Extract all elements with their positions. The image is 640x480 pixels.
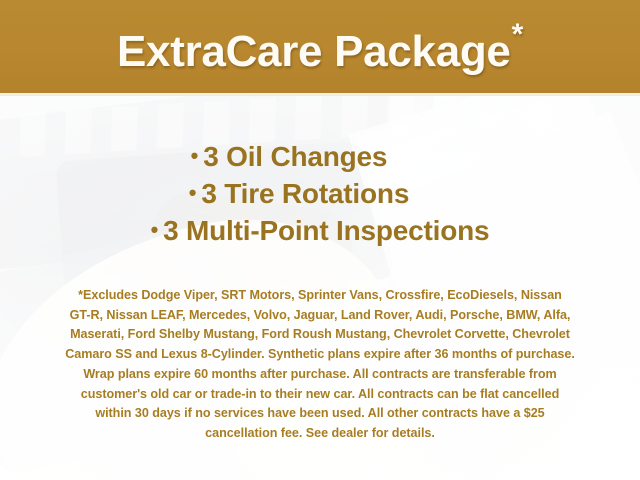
bullet-icon: •: [189, 180, 197, 205]
disclaimer-text: *Excludes Dodge Viper, SRT Motors, Sprin…: [32, 286, 608, 444]
offer-list-item: •3 Multi-Point Inspections: [0, 212, 640, 249]
disclaimer-line: customer's old car or trade-in to their …: [32, 385, 608, 405]
disclaimer-line: GT-R, Nissan LEAF, Mercedes, Volvo, Jagu…: [32, 306, 608, 326]
offer-list-item-label: 3 Multi-Point Inspections: [163, 215, 489, 246]
bullet-icon: •: [151, 217, 159, 242]
offer-list-item: •3 Tire Rotations: [0, 175, 640, 212]
disclaimer-line: Camaro SS and Lexus 8-Cylinder. Syntheti…: [32, 345, 608, 365]
disclaimer-line: *Excludes Dodge Viper, SRT Motors, Sprin…: [32, 286, 608, 306]
header-banner: ExtraCare Package*: [0, 0, 640, 93]
page-title-asterisk: *: [512, 18, 523, 51]
offer-list-item-label: 3 Oil Changes: [203, 141, 387, 172]
offer-list: •3 Oil Changes •3 Tire Rotations •3 Mult…: [0, 138, 640, 250]
disclaimer-line: within 30 days if no services have been …: [32, 404, 608, 424]
page-title: ExtraCare Package*: [117, 20, 523, 74]
disclaimer-line: cancellation fee. See dealer for details…: [32, 424, 608, 444]
bullet-icon: •: [191, 143, 199, 168]
extracare-package-ad: ExtraCare Package* •3 Oil Changes •3 Tir…: [0, 0, 640, 480]
disclaimer-line: Wrap plans expire 60 months after purcha…: [32, 365, 608, 385]
offer-list-item-label: 3 Tire Rotations: [201, 178, 409, 209]
banner-underline: [0, 93, 640, 96]
page-title-text: ExtraCare Package: [117, 27, 511, 76]
disclaimer-line: Maserati, Ford Shelby Mustang, Ford Rous…: [32, 325, 608, 345]
offer-list-item: •3 Oil Changes: [0, 138, 640, 175]
